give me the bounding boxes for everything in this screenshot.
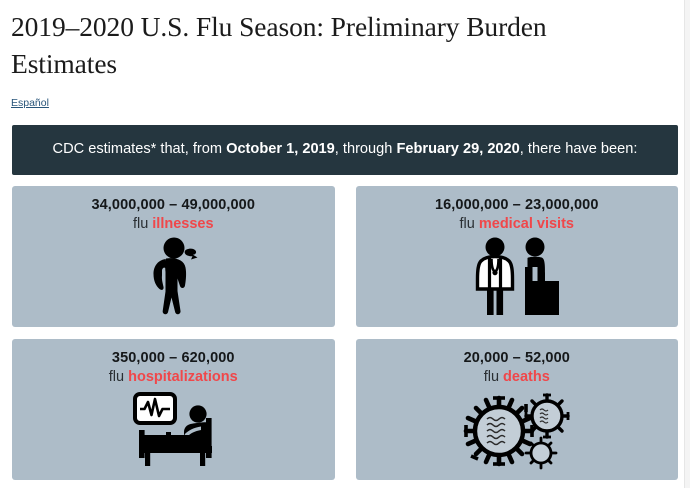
card-label-prefix: flu (484, 369, 503, 385)
burden-card-medical-visits: 16,000,000 – 23,000,000 flu medical visi… (356, 186, 679, 327)
card-range-value: 350,000 – 620,000 (112, 350, 235, 366)
card-icon-container (12, 232, 335, 327)
doctor-and-seated-patient-icon (467, 237, 567, 317)
banner-text-1: CDC estimates* that, from (53, 141, 227, 157)
card-label-highlight: illnesses (152, 216, 213, 232)
banner-text-3: , there have been: (520, 141, 638, 157)
hospital-bed-with-monitor-icon (122, 390, 224, 470)
banner-end-date: February 29, 2020 (396, 141, 519, 157)
card-label-highlight: medical visits (479, 216, 574, 232)
vertical-scrollbar[interactable] (684, 0, 690, 488)
card-label: flu medical visits (460, 216, 574, 232)
virus-medium (526, 395, 568, 437)
burden-card-deaths: 20,000 – 52,000 flu deaths (356, 339, 679, 480)
card-icon-container (356, 385, 679, 480)
seated-patient-figure (525, 238, 559, 316)
card-label: flu illnesses (133, 216, 214, 232)
banner-text-2: , through (335, 141, 397, 157)
card-label: flu hospitalizations (109, 369, 238, 385)
burden-card-hospitalizations: 350,000 – 620,000 flu hospitalizations (12, 339, 335, 480)
page-container: 2019–2020 U.S. Flu Season: Preliminary B… (0, 0, 690, 488)
card-range-value: 20,000 – 52,000 (464, 350, 570, 366)
card-label-prefix: flu (460, 216, 479, 232)
virus-small (526, 438, 556, 468)
burden-card-illnesses: 34,000,000 – 49,000,000 flu illnesses (12, 186, 335, 327)
virus-large (466, 398, 532, 464)
spanish-language-link[interactable]: Español (11, 97, 49, 109)
burden-card-grid: 34,000,000 – 49,000,000 flu illnesses 16… (12, 186, 678, 480)
card-label-highlight: deaths (503, 369, 550, 385)
estimates-banner: CDC estimates* that, from October 1, 201… (12, 125, 678, 175)
doctor-figure (477, 238, 512, 316)
page-title: 2019–2020 U.S. Flu Season: Preliminary B… (0, 0, 690, 82)
card-icon-container (12, 385, 335, 480)
virus-particles-icon (463, 389, 571, 471)
card-range-value: 34,000,000 – 49,000,000 (91, 197, 255, 213)
vital-signs-monitor (135, 394, 175, 423)
card-range-value: 16,000,000 – 23,000,000 (435, 197, 599, 213)
card-label-prefix: flu (109, 369, 128, 385)
card-label: flu deaths (484, 369, 550, 385)
sick-person-coughing-icon (140, 237, 206, 317)
card-icon-container (356, 232, 679, 327)
card-label-prefix: flu (133, 216, 152, 232)
banner-start-date: October 1, 2019 (226, 141, 335, 157)
language-link-container: Español (0, 82, 690, 111)
card-label-highlight: hospitalizations (128, 369, 238, 385)
